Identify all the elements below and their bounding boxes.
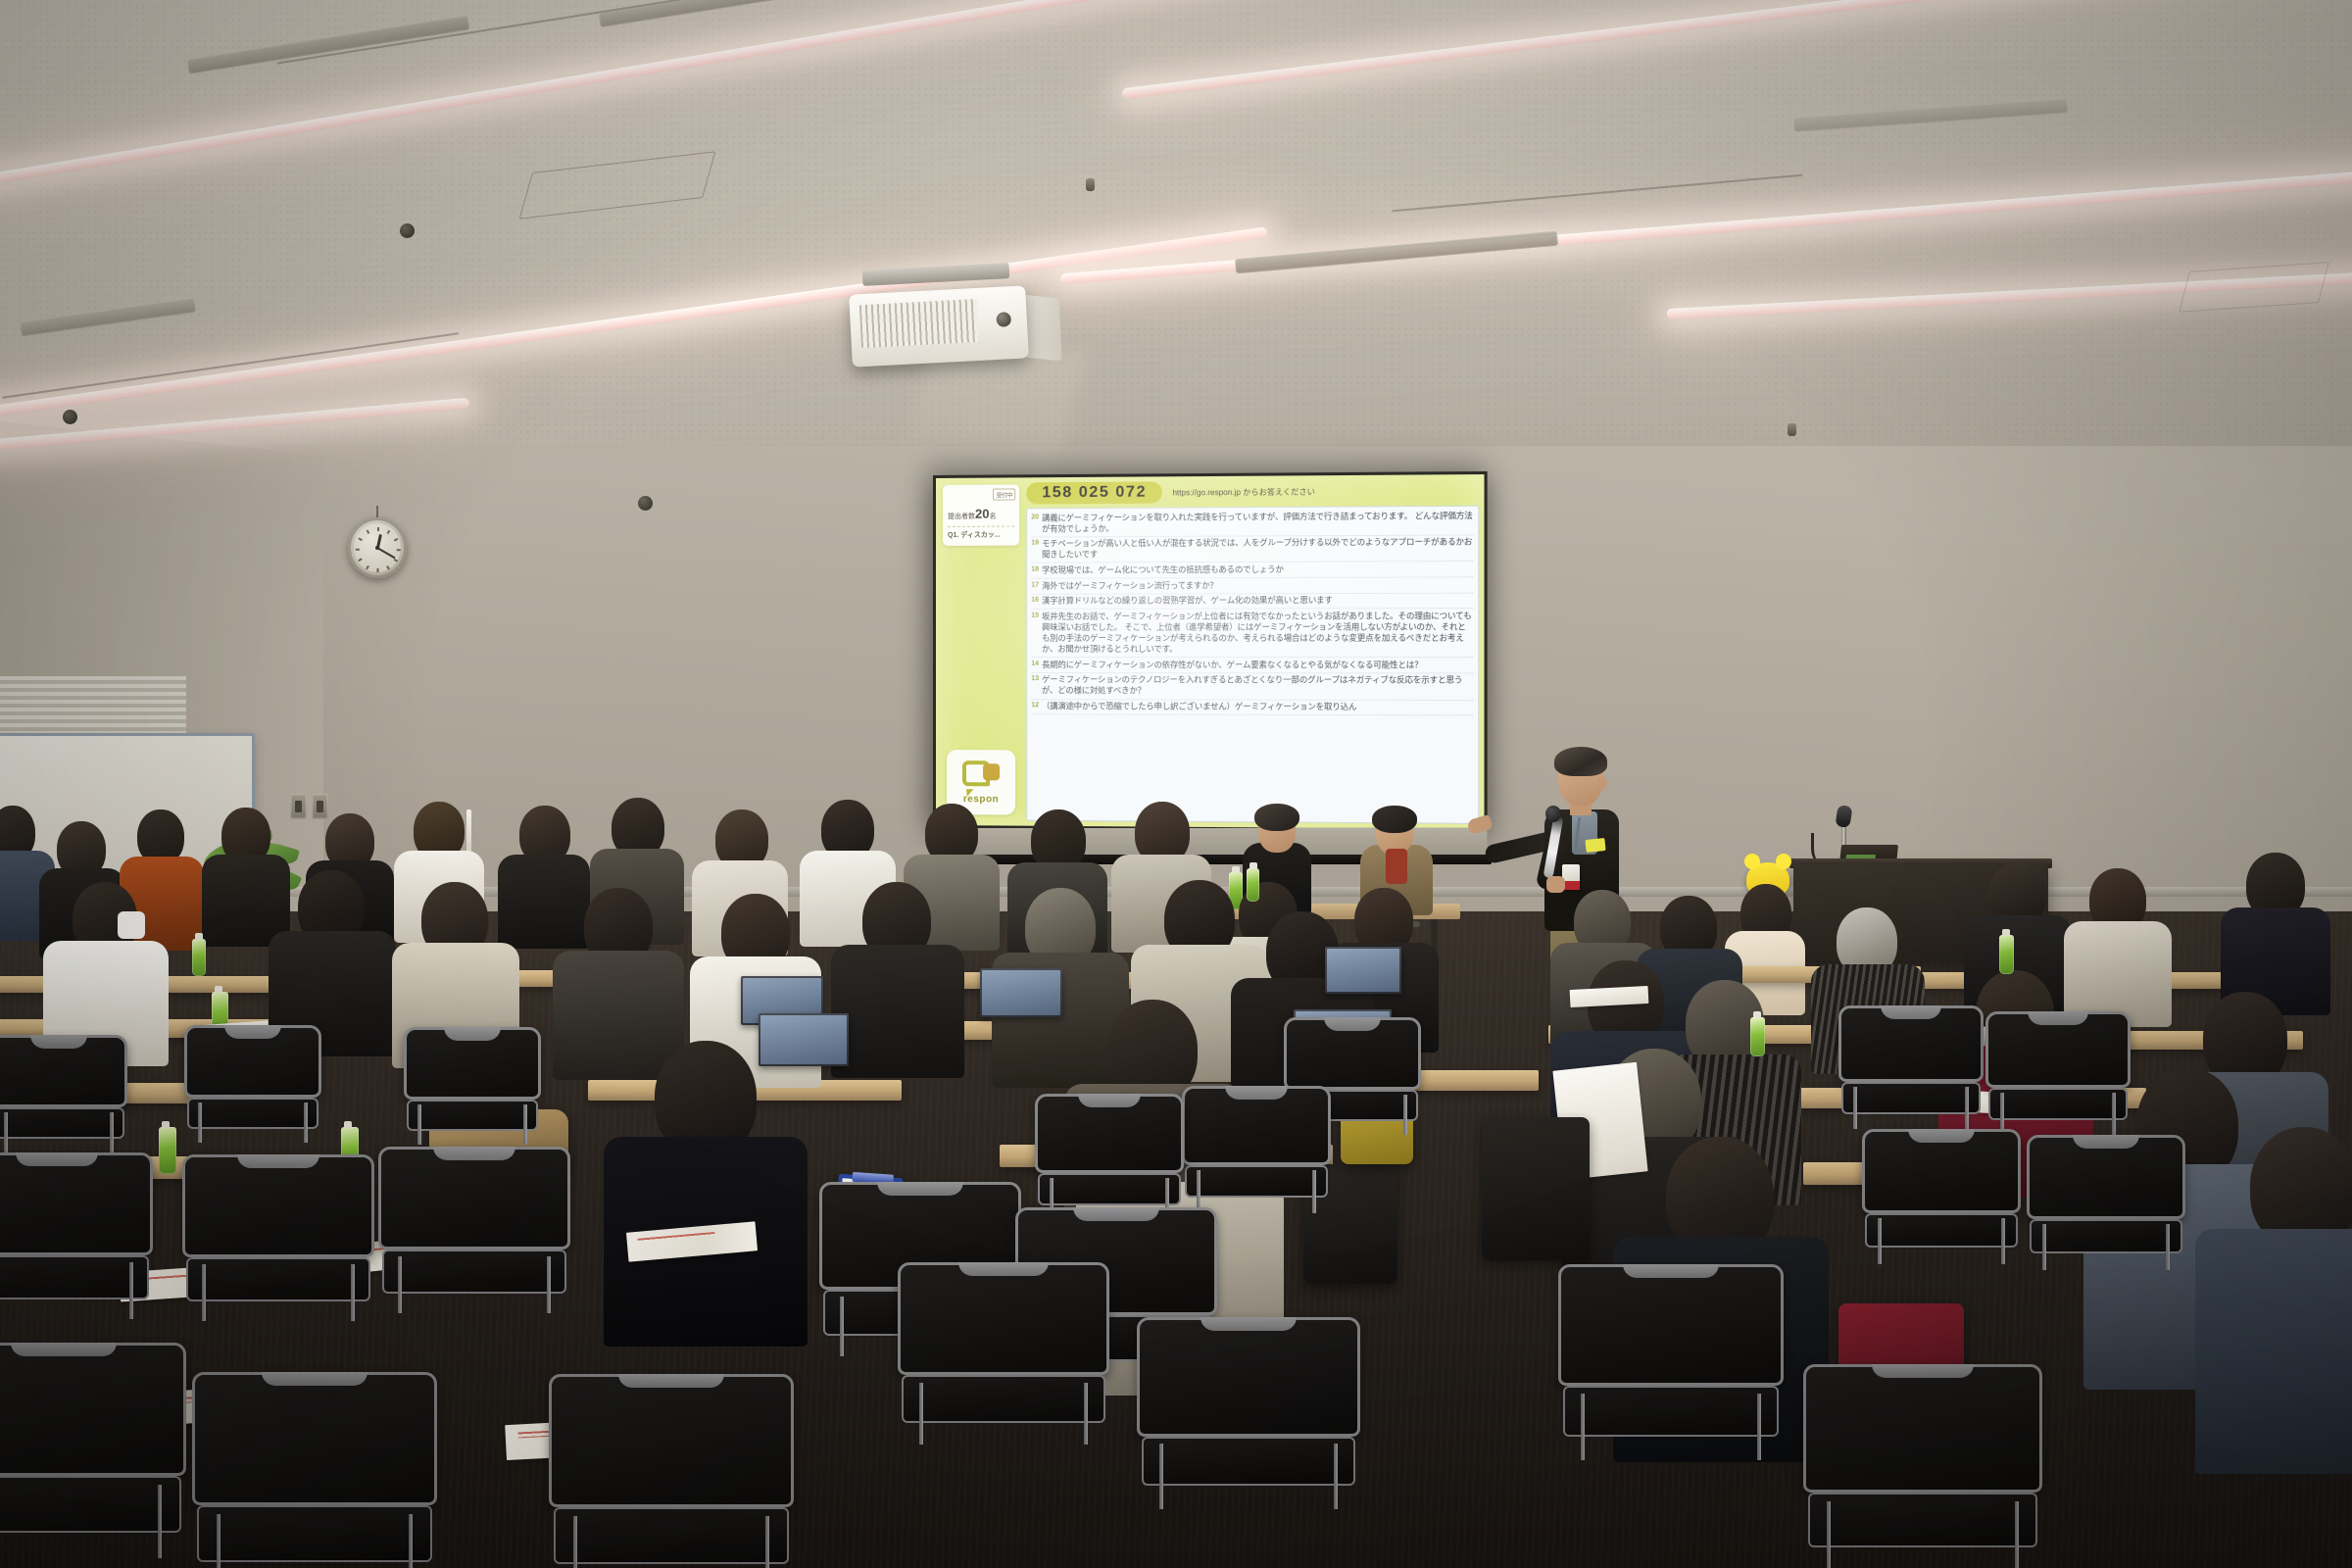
chair — [1137, 1317, 1360, 1509]
wall-outlet — [290, 794, 307, 819]
question-text: モチベーションが高い人と低い人が混在する状況では、人をグループ分けする以外でどの… — [1042, 537, 1474, 561]
chair — [1558, 1264, 1784, 1460]
question-text: 坂井先生のお話で、ゲーミフィケーションが上位者には有効でなかったというお話があり… — [1042, 611, 1474, 655]
projector-lens-icon — [996, 312, 1011, 327]
question-text: 漢字計算ドリルなどの繰り返しの習熟学習が、ゲーム化の効果が高いと思います — [1042, 595, 1333, 607]
respon-url-instruction: https://go.respon.jp からお答えください — [1172, 486, 1314, 498]
question-number: 14 — [1031, 660, 1039, 670]
slide-sidebar: 受付中 提出者数20名 Q1. ディスカッ... respon — [941, 482, 1021, 820]
clock-center-pin — [375, 546, 379, 550]
projector-vent-grille — [859, 299, 979, 348]
question-text: 海外ではゲーミフィケーション流行ってますか？ — [1042, 580, 1218, 592]
chair — [1035, 1094, 1184, 1221]
panelist-hair — [1254, 804, 1299, 831]
panelist-hair — [1372, 806, 1417, 833]
chair — [0, 1035, 127, 1152]
green-tea-bottle — [1750, 1017, 1765, 1056]
audience-torso — [553, 951, 684, 1080]
chair — [1862, 1129, 2021, 1264]
question-row: 18学校現場では、ゲーム化について先生の抵抗感もあるのでしょうか — [1031, 562, 1474, 578]
question-row: 12（講演途中からで恐縮でしたら申し訳ございません）ゲーミフィケーションを取り込… — [1031, 700, 1474, 716]
presenter-ear — [1597, 776, 1607, 789]
question-text: ゲーミフィケーションのテクノロジーを入れすぎるとあざとくなり一部のグループはネガ… — [1042, 674, 1474, 697]
smoke-detector — [638, 496, 653, 511]
slide-main: 158 025 072 https://go.respon.jp からお答えくだ… — [1026, 479, 1479, 824]
chair — [898, 1262, 1109, 1445]
question-number: 12 — [1031, 701, 1039, 711]
session-code: 158 025 072 — [1026, 481, 1162, 504]
chair — [1182, 1086, 1331, 1213]
question-text: （講演途中からで恐縮でしたら申し訳ございません）ゲーミフィケーションを取り込ん — [1042, 701, 1356, 712]
question-row: 20講義にゲーミフィケーションを取り入れた実践を行っていますが、評価方法で行き詰… — [1031, 509, 1474, 537]
chair — [0, 1152, 153, 1319]
sprinkler-head — [1788, 423, 1796, 436]
question-number: 16 — [1031, 596, 1039, 607]
chair — [549, 1374, 794, 1568]
question-text: 講義にゲーミフィケーションを取り入れた実践を行っていますが、評価方法で行き詰まっ… — [1042, 510, 1474, 534]
lecture-hall-photo: 受付中 提出者数20名 Q1. ディスカッ... respon 158 — [0, 0, 2352, 1568]
submission-card: 受付中 提出者数20名 Q1. ディスカッ... — [943, 484, 1019, 546]
question-number: 17 — [1031, 580, 1039, 591]
chair — [1803, 1364, 2042, 1568]
question-text: 学校現場では、ゲーム化について先生の抵抗感もあるのでしょうか — [1042, 564, 1284, 576]
question-number: 18 — [1031, 565, 1039, 576]
chair — [192, 1372, 437, 1568]
question-number: 15 — [1031, 612, 1039, 656]
question-row: 15坂井先生のお話で、ゲーミフィケーションが上位者には有効でなかったというお話が… — [1031, 609, 1474, 658]
open-laptop — [759, 1013, 849, 1066]
question-row: 14長期的にゲーミフィケーションの依存性がないか、ゲーム要素なくなるとやる気がな… — [1031, 658, 1474, 673]
face-mask — [118, 911, 145, 939]
audience-torso — [498, 855, 590, 949]
presenter-mic-hand — [1546, 876, 1565, 893]
backpack — [1482, 1117, 1590, 1260]
question-number: 20 — [1031, 513, 1039, 534]
question-text: 長期的にゲーミフィケーションの依存性がないか、ゲーム要素なくなるとやる気がなくな… — [1042, 660, 1423, 670]
question-number: 13 — [1031, 674, 1039, 696]
respon-slide: 受付中 提出者数20名 Q1. ディスカッ... respon 158 — [936, 474, 1485, 829]
slide-header: 158 025 072 https://go.respon.jp からお答えくだ… — [1026, 479, 1479, 504]
submission-count-value: 20 — [975, 507, 990, 521]
question-row: 19モチベーションが高い人と低い人が混在する状況では、人をグループ分けする以外で… — [1031, 535, 1474, 563]
speech-bubble-icon — [962, 760, 1000, 792]
chair — [378, 1147, 570, 1313]
audience-torso — [2195, 1229, 2352, 1474]
submission-count-label: 提出者数 — [948, 514, 975, 520]
smoke-detector — [63, 410, 77, 424]
question-list: 20講義にゲーミフィケーションを取り入れた実践を行っていますが、評価方法で行き詰… — [1026, 506, 1479, 824]
question-number: 19 — [1031, 539, 1039, 561]
green-tea-bottle — [1999, 935, 2014, 974]
open-laptop — [980, 968, 1062, 1017]
chair — [182, 1154, 374, 1321]
projection-screen: 受付中 提出者数20名 Q1. ディスカッ... respon 158 — [933, 471, 1488, 832]
chair — [1985, 1011, 2131, 1135]
audience-torso — [831, 945, 964, 1078]
wall-outlet — [312, 794, 328, 819]
chair — [0, 1343, 186, 1558]
ceiling-projector — [849, 285, 1029, 367]
question-label: Q1. ディスカッ... — [948, 530, 1001, 540]
green-tea-bottle — [192, 939, 206, 976]
green-tea-bottle — [1247, 868, 1259, 902]
question-row: 17海外ではゲーミフィケーション流行ってますか？ — [1031, 577, 1474, 594]
sprinkler-head — [1086, 178, 1095, 191]
green-tea-bottle — [159, 1127, 176, 1174]
presenter-hair — [1554, 747, 1607, 776]
chair — [184, 1025, 321, 1143]
panelist-inner-shirt — [1386, 849, 1407, 884]
presenter-pocket-square — [1585, 838, 1605, 853]
chair — [1838, 1005, 1984, 1129]
respon-wordmark: respon — [963, 794, 999, 805]
smoke-detector — [400, 223, 415, 238]
divider — [948, 526, 1014, 527]
microphone-head-icon — [1545, 806, 1561, 822]
clock-minute-hand — [377, 547, 396, 559]
wall-clock — [348, 517, 407, 578]
submission-count: 提出者数20名 — [948, 507, 1014, 521]
submission-count-unit: 名 — [990, 514, 997, 520]
question-row: 13ゲーミフィケーションのテクノロジーを入れすぎるとあざとくなり一部のグループは… — [1031, 673, 1474, 701]
question-row: 16漢字計算ドリルなどの繰り返しの習熟学習が、ゲーム化の効果が高いと思います — [1031, 593, 1474, 610]
status-badge: 受付中 — [994, 488, 1016, 500]
chair — [404, 1027, 541, 1145]
clock-face — [354, 523, 401, 572]
chair — [2027, 1135, 2185, 1270]
open-laptop — [1325, 947, 1401, 994]
